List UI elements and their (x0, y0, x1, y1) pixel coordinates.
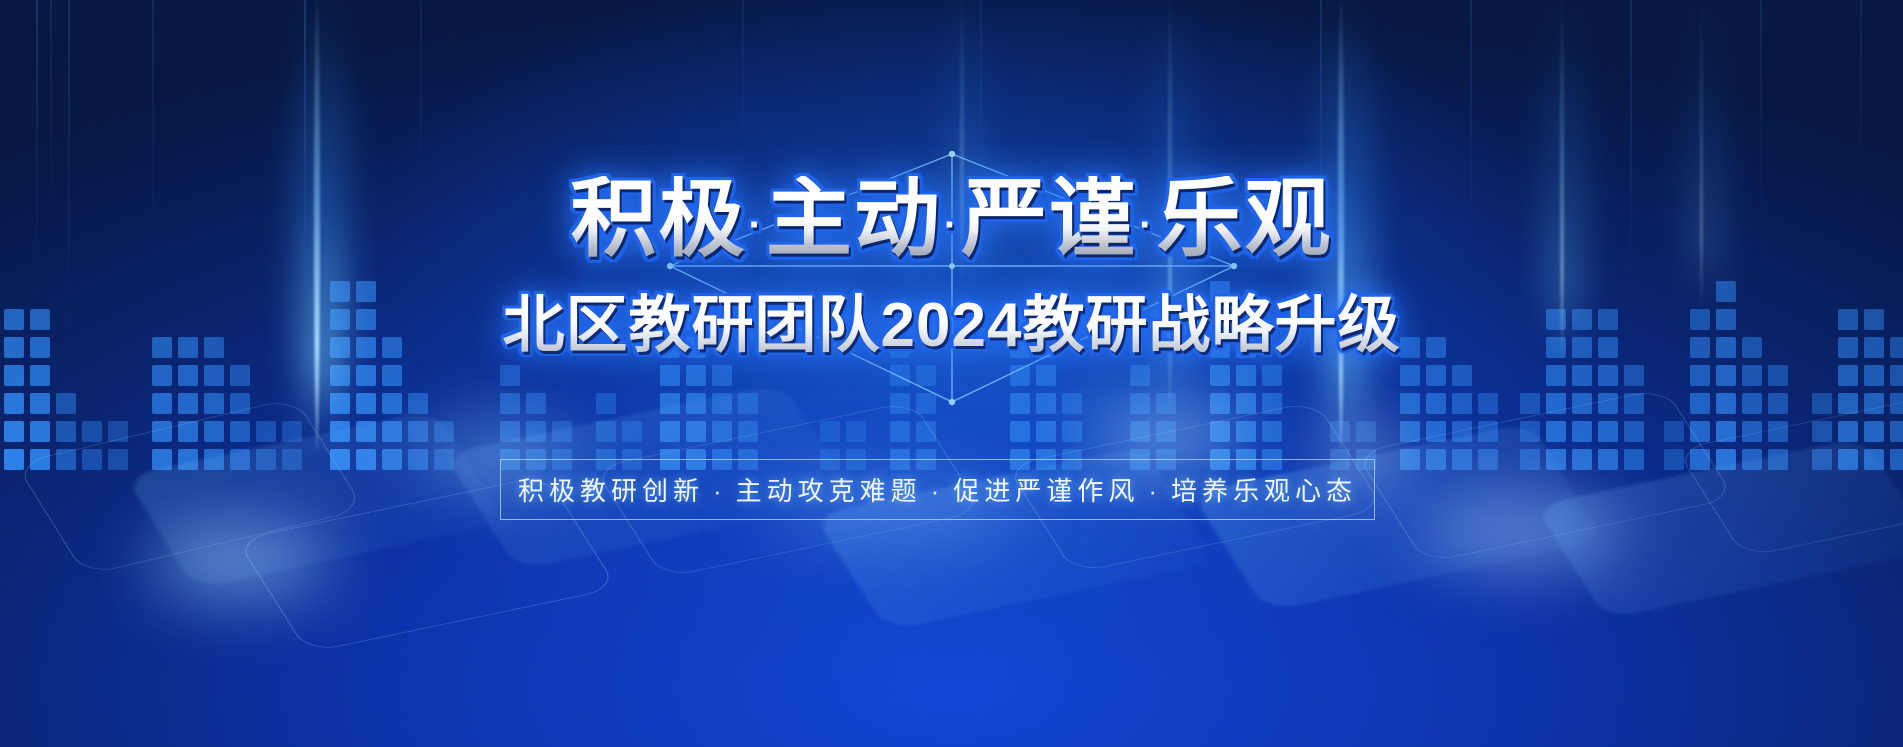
skyline-block (330, 281, 350, 302)
perspective-floor (0, 327, 1903, 747)
skyline-block (1716, 281, 1736, 302)
skyline-block (356, 281, 376, 302)
banner-root: 积极·主动·严谨·乐观 北区教研团队2024教研战略升级 积极教研创新·主动攻克… (0, 0, 1903, 747)
